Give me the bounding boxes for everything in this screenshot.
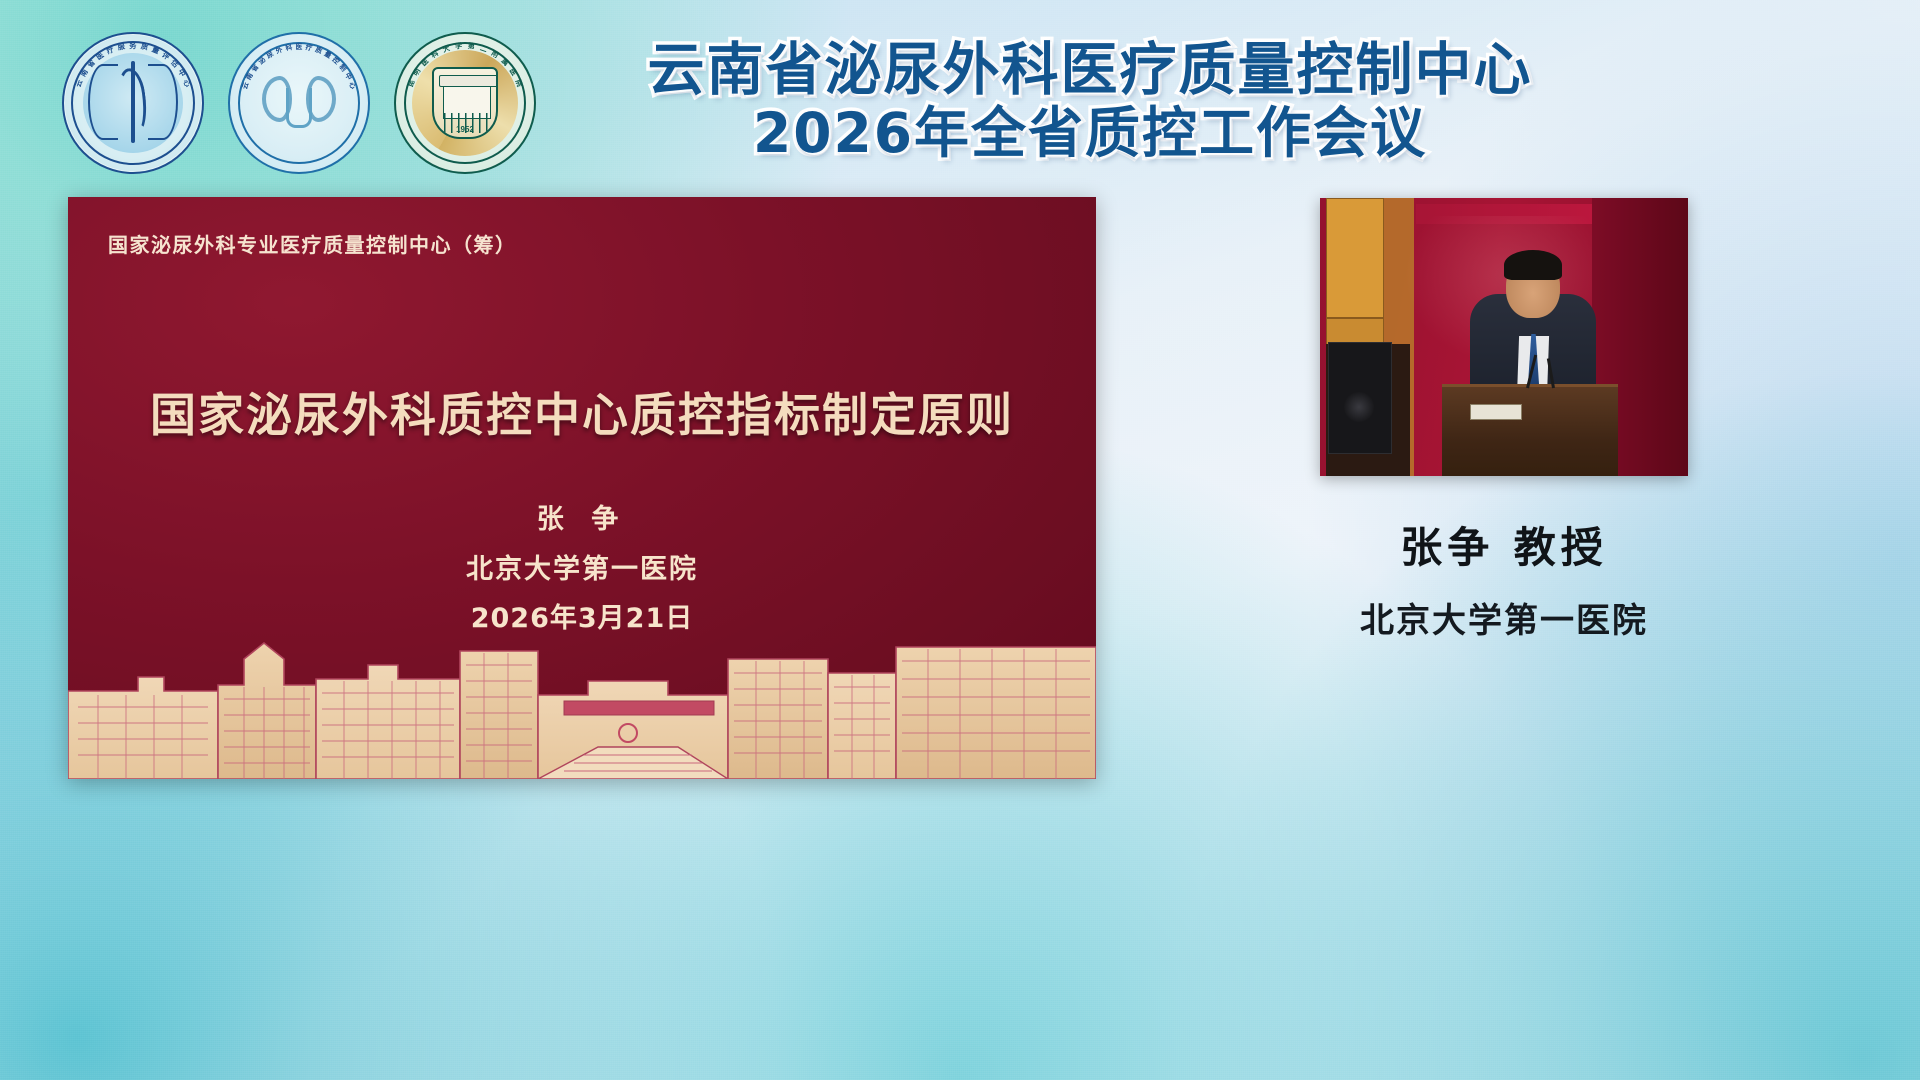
slide-presentation-date: 2026年3月21日	[68, 596, 1096, 635]
event-header-title: 云南省泌尿外科医疗质量控制中心 2026年全省质控工作会议	[640, 38, 1540, 165]
hospital-shield-icon: 1952	[432, 67, 498, 139]
hospital-building-illustration	[68, 629, 1096, 779]
wall-panel-upper	[1326, 198, 1384, 318]
speaker-hair	[1504, 250, 1562, 280]
slide-presenter-name: 张 争	[68, 497, 1096, 536]
speaker-name: 张争 教授	[1148, 514, 1860, 575]
header-title-line1: 云南省泌尿外科医疗质量控制中心	[640, 38, 1540, 102]
flask-icon	[286, 88, 312, 128]
logo-strip: 云南省医疗服务质量评估中心 云南省泌尿外科医疗质量控制中心 1952 昆明医科大…	[62, 32, 536, 174]
slide-presenter-org: 北京大学第一医院	[68, 547, 1096, 586]
hospital-founding-year: 1952	[434, 125, 496, 134]
speaker-video-feed[interactable]	[1320, 198, 1688, 476]
lectern-nameplate	[1470, 404, 1522, 420]
yunnan-urology-quality-control-center-logo: 云南省泌尿外科医疗质量控制中心	[228, 32, 370, 174]
header-title-line2: 2026年全省质控工作会议	[640, 102, 1540, 164]
slide-title: 国家泌尿外科质控中心质控指标制定原则	[68, 379, 1096, 445]
wreath-right-icon	[148, 64, 178, 140]
loudspeaker-cone-icon	[1344, 392, 1374, 422]
kunming-medical-university-second-hospital-logo: 1952 昆明医科大学第二附属医院	[394, 32, 536, 174]
yunnan-medical-service-quality-evaluation-center-logo: 云南省医疗服务质量评估中心	[62, 32, 204, 174]
slide-kicker-text: 国家泌尿外科专业医疗质量控制中心（筹）	[108, 229, 517, 258]
speaker-panel: 张争 教授 北京大学第一医院	[1148, 198, 1860, 642]
broadcast-stage: 云南省医疗服务质量评估中心 云南省泌尿外科医疗质量控制中心 1952 昆明医科大…	[0, 0, 1920, 1080]
slide-byline: 张 争 北京大学第一医院 2026年3月21日	[68, 497, 1096, 635]
wreath-left-icon	[88, 64, 118, 140]
lectern	[1442, 384, 1618, 476]
presentation-slide[interactable]: 国家泌尿外科专业医疗质量控制中心（筹） 国家泌尿外科质控中心质控指标制定原则 张…	[68, 197, 1096, 779]
speaker-organization: 北京大学第一医院	[1148, 593, 1860, 642]
